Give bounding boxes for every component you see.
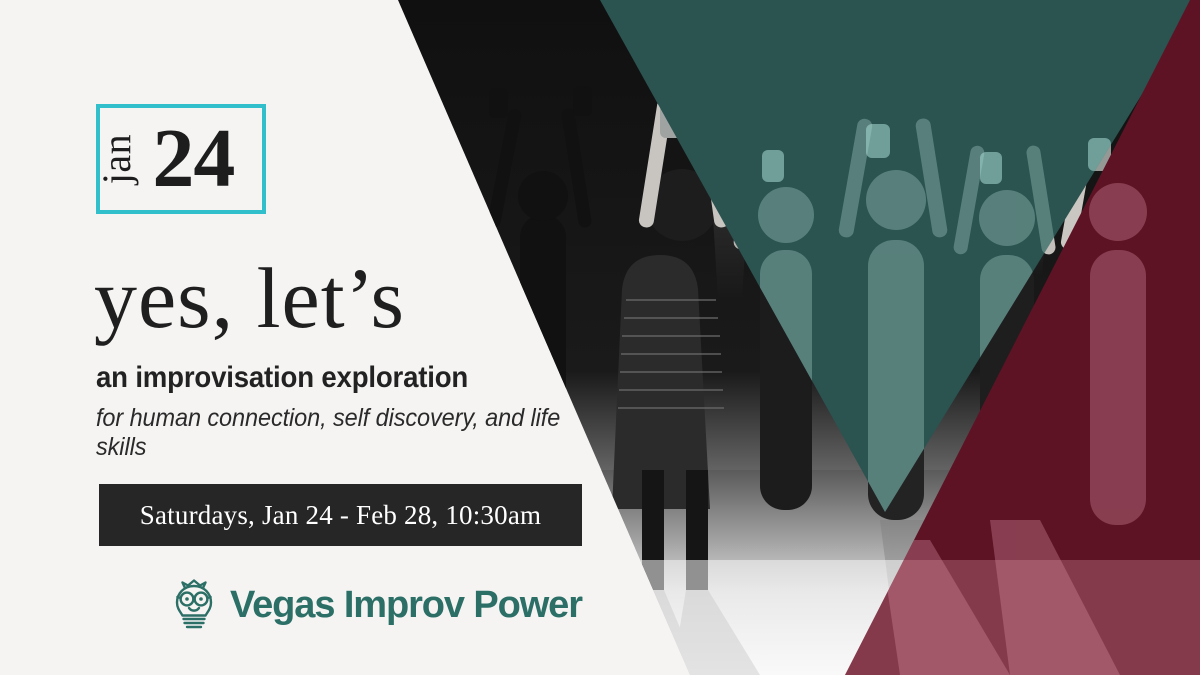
poster-content: jan 24 yes, let’s an improvisation explo… — [0, 0, 640, 675]
schedule-banner-text: Saturdays, Jan 24 - Feb 28, 10:30am — [140, 500, 541, 531]
brand-logo: Vegas Improv Power — [168, 577, 582, 633]
date-badge-month: jan — [97, 134, 137, 184]
subtitle: an improvisation exploration — [96, 361, 468, 395]
event-poster: jan 24 yes, let’s an improvisation explo… — [0, 0, 1200, 675]
lightbulb-face-glasses-icon — [168, 577, 220, 633]
schedule-banner: Saturdays, Jan 24 - Feb 28, 10:30am — [99, 484, 582, 546]
brand-name: Vegas Improv Power — [230, 584, 582, 627]
date-badge: jan 24 — [96, 104, 266, 214]
page-title: yes, let’s — [94, 255, 405, 341]
tagline: for human connection, self discovery, an… — [96, 404, 607, 462]
date-badge-day: 24 — [152, 117, 234, 201]
